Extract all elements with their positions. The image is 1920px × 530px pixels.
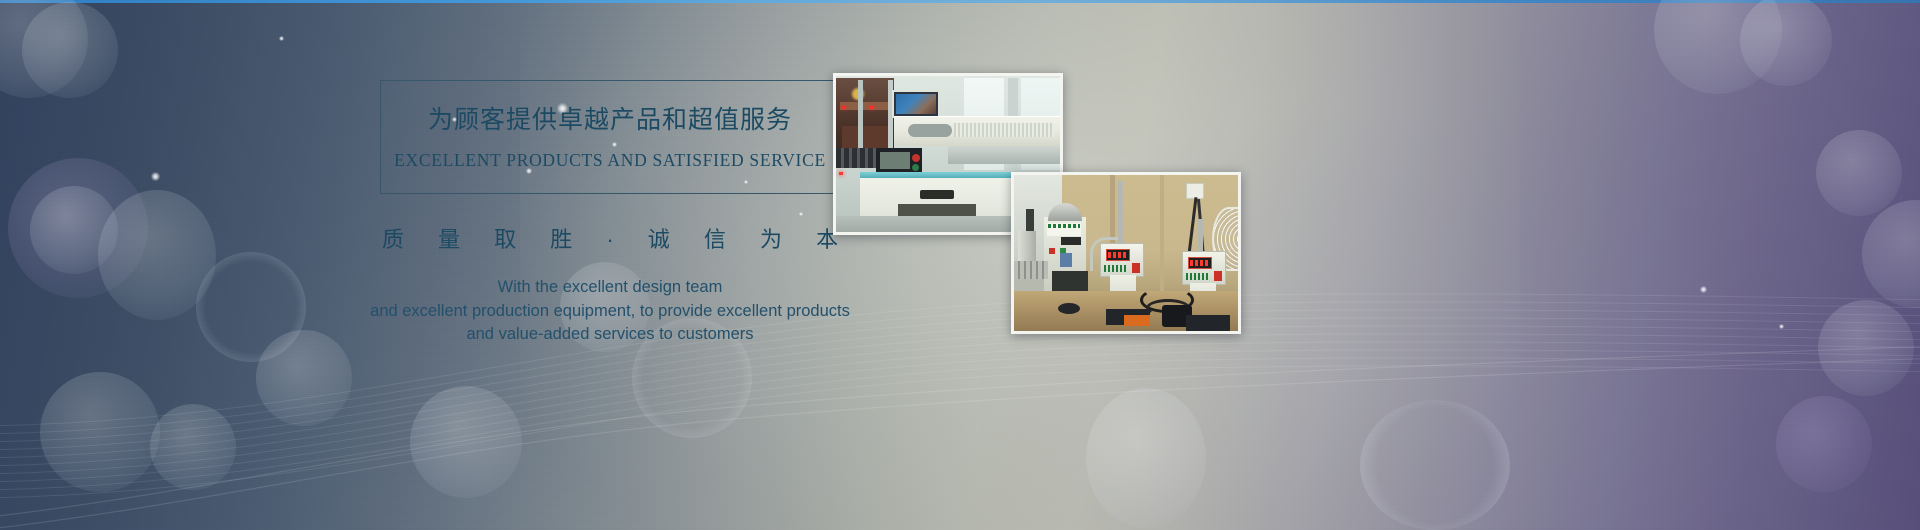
bokeh-circle [1360, 400, 1510, 530]
blurb-line: and excellent production equipment, to p… [330, 300, 890, 324]
bokeh-circle [196, 252, 306, 362]
red-button [1214, 271, 1222, 281]
drawer-handle [920, 190, 954, 199]
machine-a-label-text [1048, 224, 1080, 228]
bokeh-circle [0, 0, 88, 98]
top-accent-rule [0, 0, 1920, 3]
machine-a-cylinder [1018, 231, 1036, 261]
photo-press-units-scene [1014, 175, 1238, 331]
rubber-puck [1058, 303, 1080, 314]
blurb-paragraph: With the excellent design team and excel… [330, 276, 890, 347]
headline-frame: 为顾客提供卓越产品和超值服务 EXCELLENT PRODUCTS AND SA… [380, 80, 840, 194]
machine-b-label [1104, 265, 1128, 272]
slogan-chinese: 质 量 取 胜 · 诚 信 为 本 [330, 222, 890, 254]
bokeh-circle [1654, 0, 1782, 94]
bokeh-circle [150, 404, 236, 490]
machine-b-rod [1118, 181, 1123, 245]
metal-tray [948, 146, 1063, 164]
perforated-vent [954, 123, 1054, 137]
bokeh-circle [98, 190, 216, 320]
orange-pad [1124, 315, 1150, 326]
machine-a-display [1061, 237, 1081, 245]
bokeh-circle [1086, 388, 1206, 528]
indicator-light [870, 106, 874, 109]
blurb-line: and value-added services to customers [330, 323, 890, 347]
blurb-line: With the excellent design team [330, 276, 890, 300]
headline-chinese: 为顾客提供卓越产品和超值服务 [391, 105, 829, 136]
indicator-light [839, 172, 843, 175]
banner-copy: 为顾客提供卓越产品和超值服务 EXCELLENT PRODUCTS AND SA… [330, 80, 890, 347]
sparkle-dot [1700, 286, 1707, 293]
bokeh-circle [1816, 130, 1902, 216]
bokeh-circle [410, 386, 522, 498]
wood-shelf [840, 102, 892, 110]
wave-decoration [0, 230, 1920, 530]
photo-press-units [1011, 172, 1241, 334]
bokeh-circle [8, 158, 148, 298]
bokeh-circle [1776, 396, 1872, 492]
machine-c-base [1186, 315, 1230, 331]
machine-a-blue-card [1060, 253, 1072, 267]
machine-a-plate [1052, 271, 1088, 291]
indicator-light [842, 106, 846, 109]
bokeh-circle [1862, 200, 1920, 308]
monitor-screen [896, 94, 936, 114]
machine-b-led-digits [1108, 252, 1128, 258]
hood-window [908, 124, 952, 137]
sparkle-dot [151, 172, 160, 181]
bokeh-circle [22, 2, 118, 98]
machine-c-led-digits [1190, 260, 1210, 266]
machine-c-rod [1198, 219, 1203, 255]
machine-c-label [1186, 273, 1210, 280]
red-button [1049, 248, 1055, 254]
sparkle-dot [1779, 324, 1784, 329]
red-button [912, 154, 920, 162]
wall-seam [1160, 175, 1164, 293]
bokeh-circle [40, 372, 160, 492]
parts-tray [1014, 261, 1048, 279]
headline-english: EXCELLENT PRODUCTS AND SATISFIED SERVICE [391, 150, 829, 171]
bokeh-circle [1818, 300, 1914, 396]
bokeh-circle [30, 186, 118, 274]
green-button [912, 164, 919, 171]
control-panel-screen [880, 152, 910, 169]
red-button [1132, 263, 1140, 273]
bokeh-circle [1740, 0, 1832, 86]
promo-banner: 为顾客提供卓越产品和超值服务 EXCELLENT PRODUCTS AND SA… [0, 0, 1920, 530]
sparkle-dot [279, 36, 284, 41]
